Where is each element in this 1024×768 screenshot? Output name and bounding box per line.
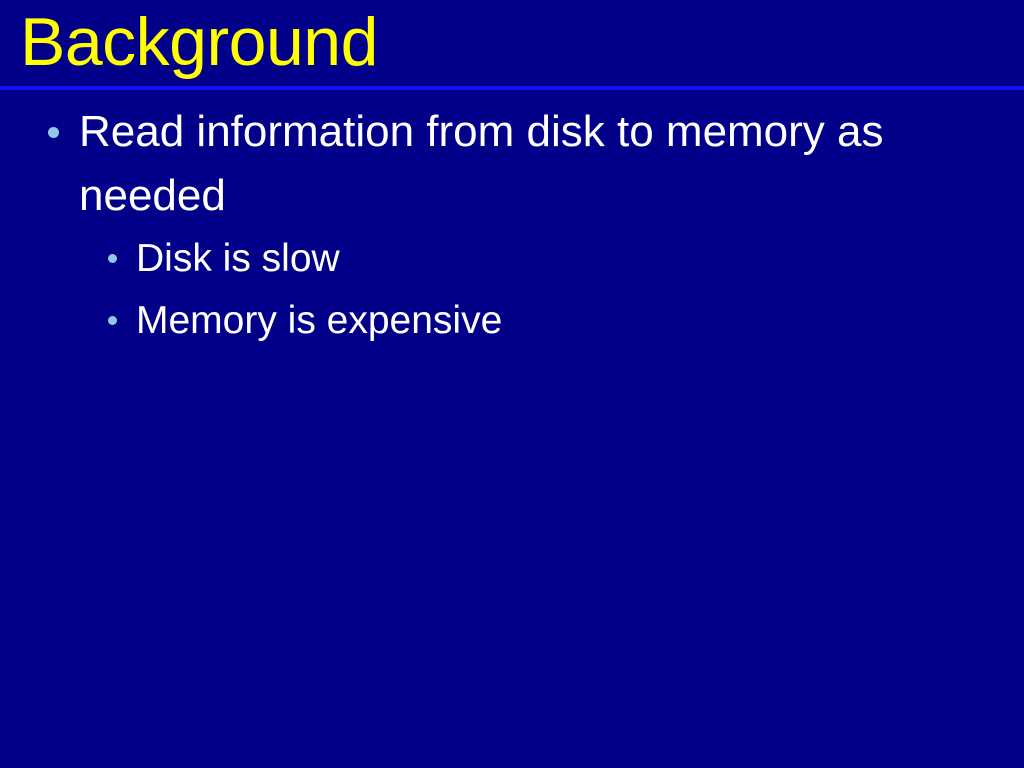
- list-item: Memory is expensive: [0, 290, 1024, 352]
- presentation-slide: Background Read information from disk to…: [0, 0, 1024, 768]
- round-bullet-icon: [108, 254, 117, 263]
- round-bullet-icon: [108, 316, 117, 325]
- list-item-label: Disk is slow: [136, 237, 340, 280]
- list-item: Disk is slow: [0, 228, 1024, 290]
- page-title: Background: [20, 2, 378, 82]
- list-item: Read information from disk to memory as …: [0, 100, 1024, 228]
- list-item-label: Memory is expensive: [136, 299, 502, 342]
- slide-body: Read information from disk to memory as …: [0, 100, 1024, 352]
- list-item-label: Read information from disk to memory as …: [79, 107, 884, 220]
- round-bullet-icon: [48, 127, 59, 138]
- title-divider-rule: [0, 86, 1024, 90]
